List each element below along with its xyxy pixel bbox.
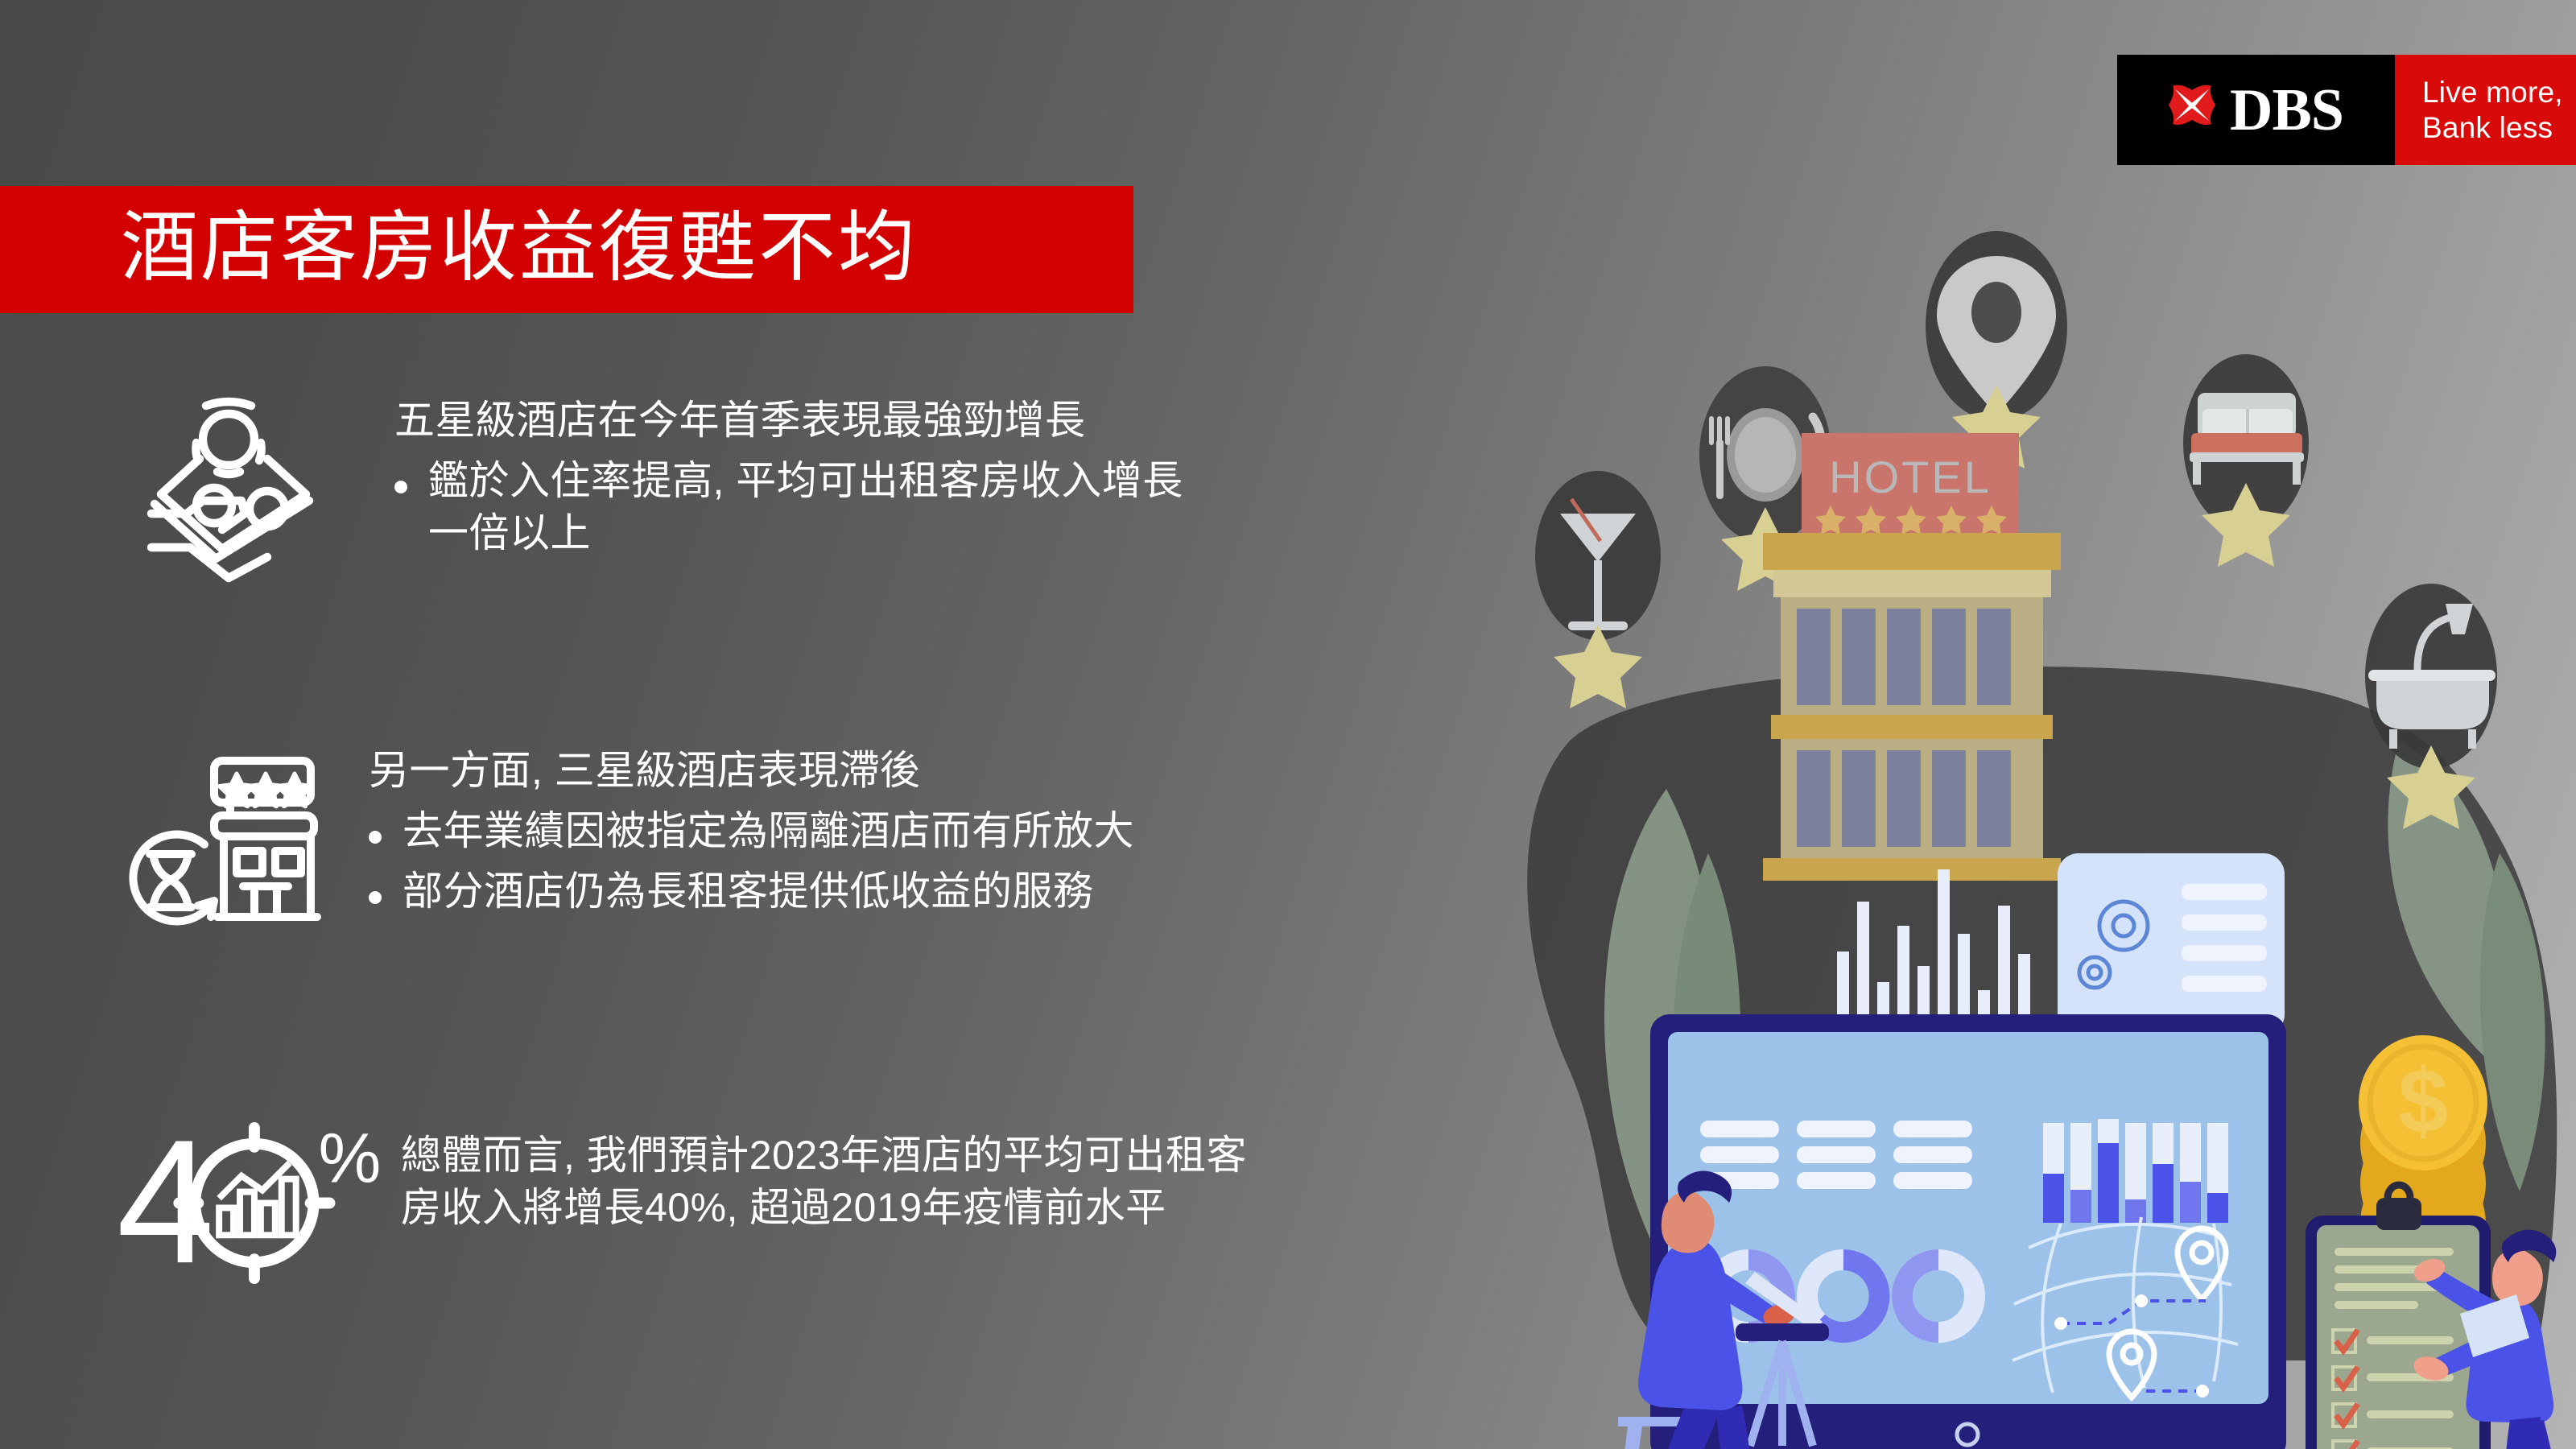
block-2-bullet-2-text: 部分酒店仍為長租客提供低收益的服務: [402, 865, 1094, 918]
content-block-3-text: 總體而言, 我們預計2023年酒店的平均可出租客 房收入將增長40%, 超過20…: [401, 1129, 1247, 1234]
block-3-heading-line-1: 總體而言, 我們預計2023年酒店的平均可出租客: [401, 1129, 1247, 1182]
text-placeholder-lines: [1700, 1121, 1972, 1189]
bullet-dot-icon: [369, 831, 382, 844]
block-1-bullet-1-text: 鑑於入住率提高, 平均可出租客房收入增長 一倍以上: [428, 455, 1183, 559]
hotel-building-icon: HOTEL: [1763, 433, 2061, 881]
icon-percent-sign: %: [319, 1119, 382, 1198]
dollar-sign-icon: $: [2398, 1051, 2448, 1151]
block-2-bullet-2: 部分酒店仍為長租客提供低收益的服務: [369, 865, 1134, 918]
block-2-bullet-1-text: 去年業績因被指定為隔離酒店而有所放大: [402, 805, 1134, 857]
amenity-bubble-bed: [2183, 354, 2309, 567]
amenity-bubble-cocktail: [1535, 471, 1661, 708]
slide-canvas: DBS Live more, Bank less 酒店客房收益復甦不均: [0, 0, 2576, 1449]
content-block-1-text: 五星級酒店在今年首季表現最強勁增長 鑑於入住率提高, 平均可出租客房收入增長 一…: [394, 394, 1183, 559]
dbs-tagline-line-1: Live more,: [2422, 75, 2576, 110]
bar-chart-icon: [2043, 1119, 2228, 1223]
star-icon: [1554, 625, 1642, 708]
content-block-3: 4 % 總體而言, 我們預計2023年酒店的平均可出租: [113, 1115, 1247, 1288]
bullet-dot-icon: [394, 481, 407, 493]
block-1-bullet-1-line-1: 鑑於入住率提高, 平均可出租客房收入增長: [428, 455, 1183, 507]
hotel-illustration: HOTEL: [1497, 177, 2576, 1449]
dbs-tagline-line-2: Bank less: [2422, 110, 2576, 146]
block-1-heading: 五星級酒店在今年首季表現最強勁增長: [394, 394, 1183, 447]
hand-holding-money-icon: [129, 394, 338, 588]
dbs-wordmark: DBS: [2230, 80, 2343, 140]
hotel-sign-label: HOTEL: [1829, 452, 1992, 502]
content-block-2: 另一方面, 三星級酒店表現滯後 去年業績因被指定為隔離酒店而有所放大 部分酒店仍…: [121, 745, 1134, 946]
block-2-heading: 另一方面, 三星級酒店表現滯後: [369, 745, 1134, 797]
dbs-logo: DBS Live more, Bank less: [2117, 55, 2576, 165]
content-block-1: 五星級酒店在今年首季表現最強勁增長 鑑於入住率提高, 平均可出租客房收入增長 一…: [129, 394, 1183, 588]
block-1-bullet-1: 鑑於入住率提高, 平均可出租客房收入增長 一倍以上: [394, 455, 1183, 559]
amenity-bubble-location: [1926, 231, 2067, 469]
content-block-2-text: 另一方面, 三星級酒店表現滯後 去年業績因被指定為隔離酒店而有所放大 部分酒店仍…: [369, 745, 1134, 918]
dbs-diamond-x-icon: [2165, 82, 2219, 138]
three-star-hotel-hourglass-icon: [121, 745, 322, 946]
bullet-dot-icon: [369, 891, 382, 904]
dbs-logo-red-panel: Live more, Bank less: [2395, 55, 2576, 165]
forty-percent-target-chart-icon: 4 %: [113, 1115, 370, 1288]
block-3-heading-line-2: 房收入將增長40%, 超過2019年疫情前水平: [401, 1182, 1247, 1234]
dbs-logo-black-panel: DBS: [2117, 55, 2395, 165]
block-1-bullet-1-line-2: 一倍以上: [428, 507, 1183, 559]
page-title: 酒店客房收益復甦不均: [121, 196, 918, 300]
gear-card-icon: [2058, 853, 2285, 1035]
block-2-bullet-1: 去年業績因被指定為隔離酒店而有所放大: [369, 805, 1134, 857]
